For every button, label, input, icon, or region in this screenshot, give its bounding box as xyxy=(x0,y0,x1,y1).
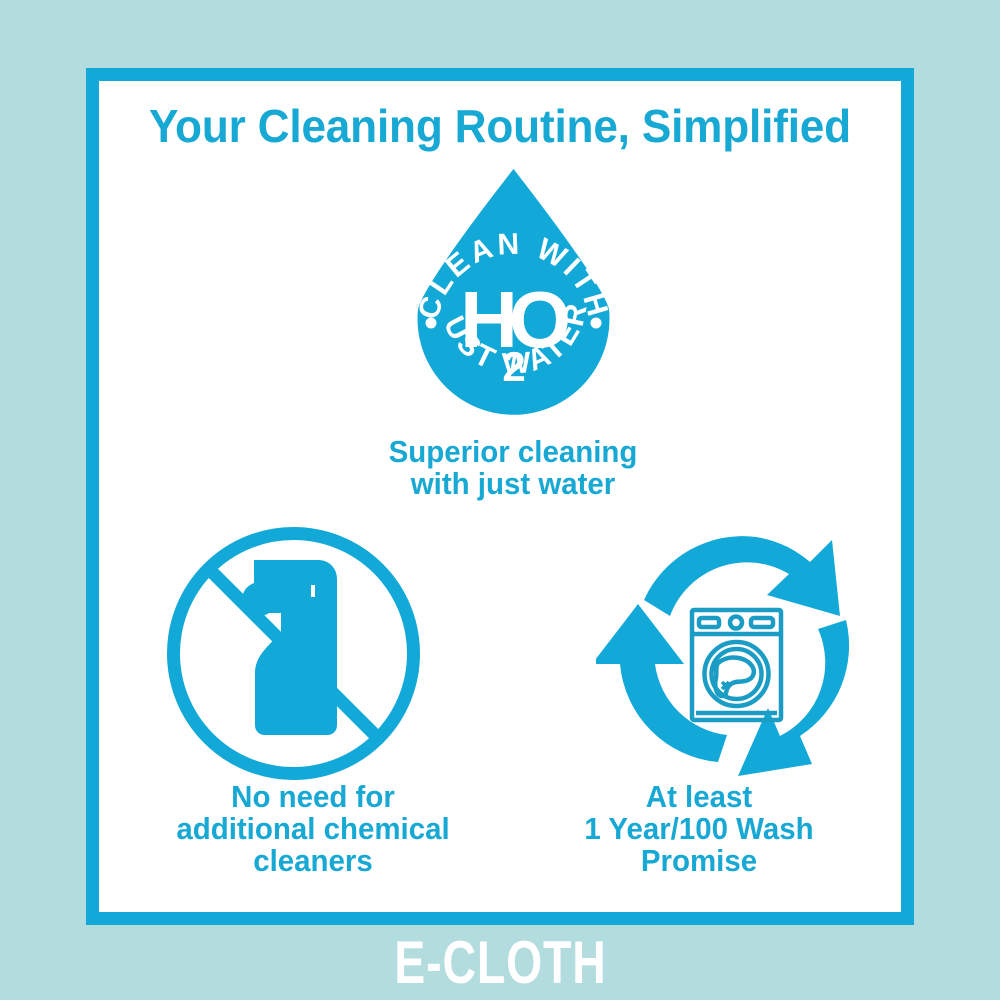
page-title: Your Cleaning Routine, Simplified xyxy=(115,99,885,153)
formula-subscript: 2 xyxy=(502,343,525,390)
content-card: Your Cleaning Routine, Simplified CLEAN … xyxy=(86,68,914,925)
feature-caption-no-chemicals: No need for additional chemical cleaners xyxy=(123,781,503,877)
cycle-arrows-icon xyxy=(596,536,849,776)
brand-logo: E-CLOTH xyxy=(0,925,1000,1000)
caption-line: additional chemical xyxy=(123,813,503,845)
washing-machine-cycle-icon xyxy=(596,524,871,786)
caption-line: 1 Year/100 Wash xyxy=(509,813,889,845)
washing-machine-shape xyxy=(692,610,781,720)
no-spray-bottle-icon xyxy=(161,521,426,786)
caption-line: with just water xyxy=(323,468,703,500)
caption-line: Superior cleaning xyxy=(323,436,703,468)
badge-dot-left-icon xyxy=(426,318,437,329)
water-drop-badge-icon: CLEAN WITH JUST WATER H O 2 xyxy=(406,163,621,428)
brand-wordmark: E-CLOTH xyxy=(394,928,606,997)
badge-dot-right-icon xyxy=(591,318,602,329)
feature-caption-water: Superior cleaning with just water xyxy=(323,436,703,500)
caption-line: Promise xyxy=(509,845,889,877)
caption-line: At least xyxy=(509,781,889,813)
feature-caption-wash-promise: At least 1 Year/100 Wash Promise xyxy=(509,781,889,877)
promo-poster: Your Cleaning Routine, Simplified CLEAN … xyxy=(0,0,1000,1000)
caption-line: No need for xyxy=(123,781,503,813)
caption-line: cleaners xyxy=(123,845,503,877)
